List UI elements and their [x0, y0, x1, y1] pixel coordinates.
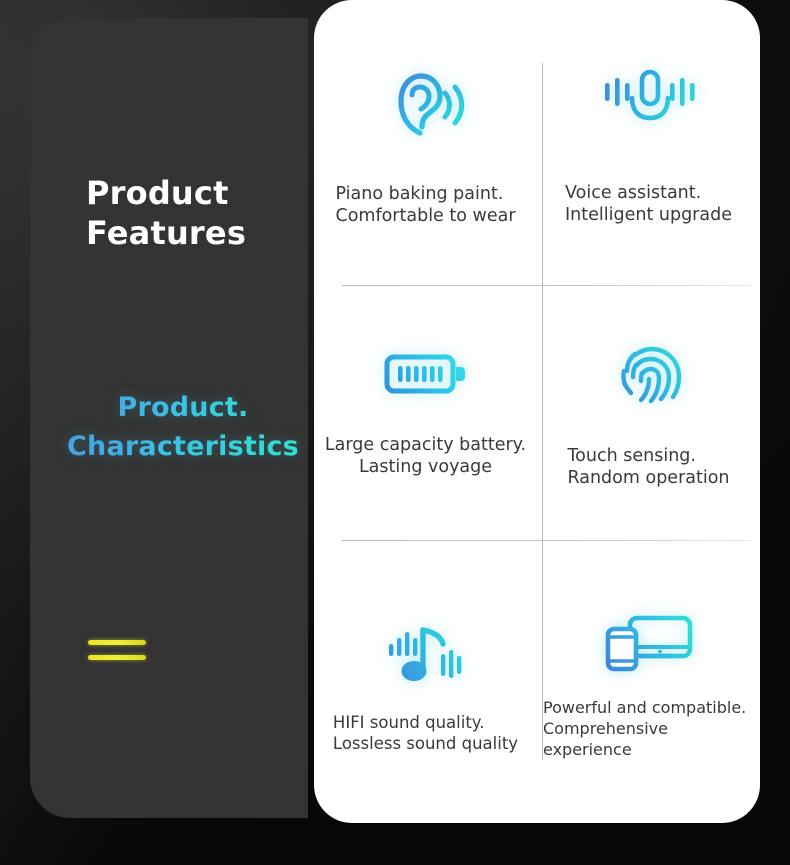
grid-divider-vertical	[542, 63, 543, 760]
music-note-icon	[385, 620, 467, 690]
feature-caption: Voice assistant. Intelligent upgrade	[565, 182, 732, 226]
page-subtitle: Product. Characteristics	[58, 388, 308, 466]
features-card: Piano baking paint. Comfortable to wear	[314, 0, 760, 823]
grid-divider-horizontal-bottom	[342, 540, 750, 541]
divider-line-top	[88, 640, 146, 645]
yellow-divider-mark	[88, 640, 148, 660]
feature-cell-hifi-sound-quality: HIFI sound quality. Lossless sound quali…	[314, 540, 537, 823]
microphone-voice-icon	[601, 66, 697, 136]
feature-caption: Powerful and compatible. Comprehensive e…	[543, 697, 754, 760]
grid-divider-horizontal-top	[342, 285, 750, 286]
feature-caption: HIFI sound quality. Lossless sound quali…	[333, 712, 518, 754]
features-grid: Piano baking paint. Comfortable to wear	[314, 0, 760, 823]
left-title-panel: Product Features Product. Characteristic…	[30, 18, 308, 818]
devices-phone-laptop-icon	[604, 613, 694, 675]
feature-caption: Piano baking paint. Comfortable to wear	[335, 183, 515, 227]
page-title: Product Features	[86, 173, 306, 253]
feature-cell-piano-baking-paint: Piano baking paint. Comfortable to wear	[314, 0, 537, 285]
product-features-slide: Product Features Product. Characteristic…	[0, 0, 790, 865]
battery-icon	[383, 348, 469, 400]
feature-cell-powerful-and-compatible: Powerful and compatible. Comprehensive e…	[537, 540, 760, 823]
fingerprint-icon	[611, 337, 687, 413]
feature-cell-touch-sensing: Touch sensing. Random operation	[537, 285, 760, 540]
feature-caption: Touch sensing. Random operation	[567, 445, 729, 489]
feature-cell-voice-assistant: Voice assistant. Intelligent upgrade	[537, 0, 760, 285]
feature-cell-large-capacity-battery: Large capacity battery. Lasting voyage	[314, 285, 537, 540]
ear-listening-icon	[387, 65, 465, 143]
divider-line-bottom	[88, 655, 146, 660]
feature-caption: Large capacity battery. Lasting voyage	[325, 434, 526, 478]
